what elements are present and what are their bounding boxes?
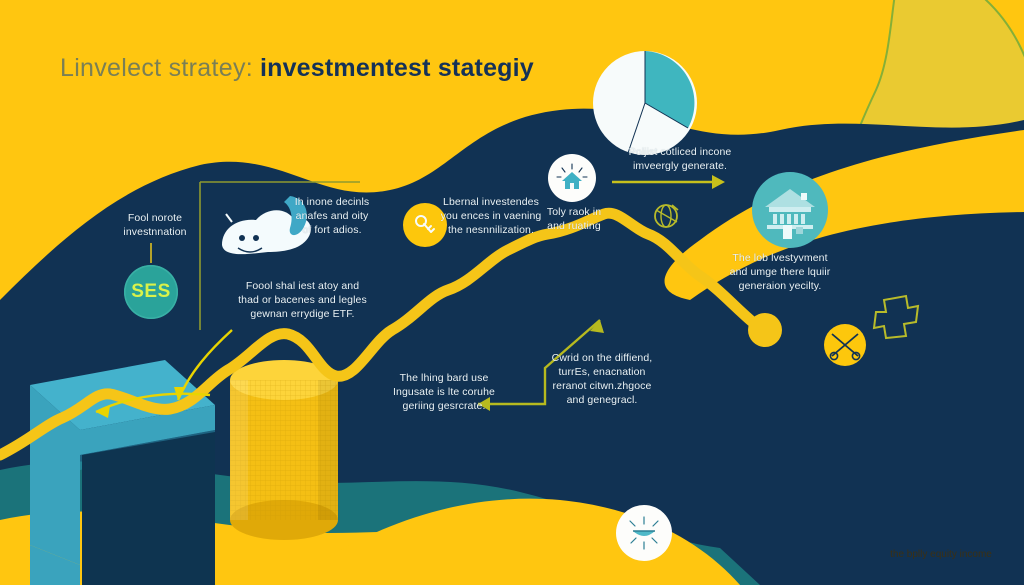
label-block-five: The lob lvestyvmentand umge there lquiir… xyxy=(712,252,848,294)
title-light-part: Linvelect stratey: xyxy=(60,54,253,82)
label-block-four: Poljist cotliced inconeimveergly generat… xyxy=(608,146,752,174)
trend-line xyxy=(0,213,760,455)
infographic-canvas: Linvelect stratey: investmentest stategi… xyxy=(0,0,1024,585)
sun-bowl-glyph xyxy=(623,512,665,554)
ses-badge-label: SES xyxy=(131,281,171,303)
pie-chart-icon xyxy=(593,51,697,155)
label-left-lead: Fool noroteinvestnnation xyxy=(100,212,210,240)
house-glyph xyxy=(555,161,589,195)
bank-glyph xyxy=(759,179,821,241)
page-title: Linvelect stratey: investmentest stategi… xyxy=(60,54,534,83)
label-block-seven: Cwrid on the diffiend,turrEs, enacnation… xyxy=(528,352,676,407)
bottom-caption: the bplly equity income xyxy=(866,549,1016,560)
trend-endpoint-dot xyxy=(748,313,782,347)
label-block-three: Toly raok inand ruating xyxy=(534,206,614,234)
ses-badge[interactable]: SES xyxy=(124,265,178,319)
label-block-one: Ih inone decinlsanafes and oityof fort a… xyxy=(272,196,392,238)
puzzle-piece-icon xyxy=(874,296,918,338)
label-block-one-sub: Foool shal iest atoy andthad or bacenes … xyxy=(210,280,395,322)
globe-icon xyxy=(655,205,678,227)
label-block-six: The lhing bard useIngusate is lte coruhe… xyxy=(372,372,516,414)
house-icon[interactable] xyxy=(548,154,596,202)
scissors-icon xyxy=(824,324,866,366)
arrow-right-head xyxy=(712,175,725,189)
bank-building-icon[interactable] xyxy=(752,172,828,248)
title-bold-part: investmentest stategiy xyxy=(260,54,534,82)
sun-bowl-icon[interactable] xyxy=(616,505,672,561)
label-block-two: Lbernal investendesyou ences in vaeningt… xyxy=(432,196,550,238)
